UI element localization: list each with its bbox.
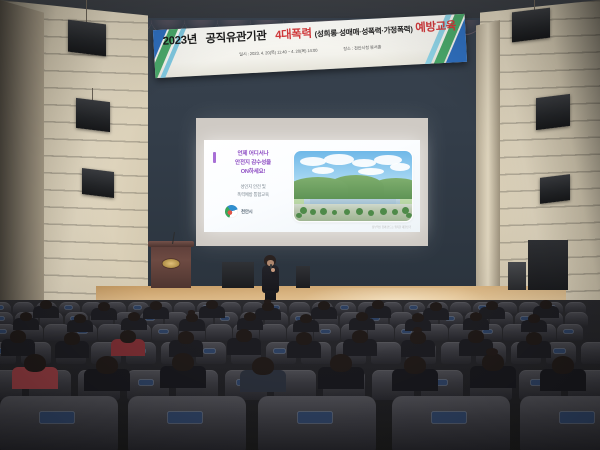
right-wall-corner [476, 20, 500, 306]
attendee-head [74, 314, 86, 323]
banner-accent: 4대폭력 [275, 28, 312, 42]
seat-number-plate [0, 330, 6, 333]
banner-year: 2023년 [162, 34, 197, 48]
attendee-head [430, 302, 442, 311]
slide-heading-line-1: 언제 어디서나 [219, 150, 287, 159]
photo-cloud [358, 168, 384, 175]
speaker-icon [82, 168, 114, 198]
attendee-head [552, 356, 574, 374]
slide-accent-bar [213, 152, 216, 163]
speaker-icon [76, 98, 110, 132]
seat-number-plate [40, 412, 74, 423]
podium [151, 245, 191, 288]
speaker-icon [528, 240, 568, 290]
photo-tree [392, 209, 398, 215]
seat-number-plate [560, 412, 594, 423]
auditorium-seat [258, 396, 376, 450]
slide-photo-city-hall [294, 151, 412, 221]
seat-number-plate [204, 349, 215, 353]
slide-logo: 천안시 [225, 205, 253, 218]
photo-hill [294, 177, 348, 199]
auditorium-photo: 2023년 공직유관기관 4대폭력 (성희롱·성매매·성폭력·가정폭력) 예방교… [0, 0, 600, 450]
banner-org: 공직유관기관 [205, 30, 267, 45]
auditorium-seat [206, 324, 232, 341]
banner-place: 장소 : 천안시청 봉서홀 [343, 44, 381, 52]
seat-number-plate [168, 412, 202, 423]
attendee-hair-bun [486, 348, 498, 356]
speaker-icon [512, 8, 550, 43]
auditorium-seat [557, 324, 583, 341]
seat-number-plate [321, 330, 329, 333]
seat-number-plate [139, 380, 153, 385]
auditorium-seat [581, 342, 600, 364]
attendee-head [468, 330, 484, 343]
seat-number-plate [564, 330, 572, 333]
attendee-head [150, 301, 162, 310]
photo-tree [296, 213, 302, 218]
auditorium-seat [128, 396, 246, 450]
attendee-head [40, 300, 52, 309]
podium-emblem-icon [163, 259, 180, 268]
auditorium-seat [520, 396, 600, 450]
speaker-icon [536, 94, 570, 130]
attendee-head [352, 330, 368, 343]
podium-top [148, 241, 194, 247]
photo-cloud [324, 154, 354, 165]
attendee-head [318, 301, 330, 310]
seat-number-plate [159, 330, 167, 333]
speaker-icon [222, 262, 254, 288]
photo-tree [380, 208, 387, 215]
auditorium-seat [152, 324, 178, 341]
attendee-head [178, 331, 194, 344]
attendee-head [128, 312, 140, 321]
attendee-head [528, 314, 540, 323]
projection-screen: 언제 어디서나 안전지 감수성을 ON하세요! 성인지 안전 및 폭력예방 통합… [196, 118, 428, 246]
attendee-head [96, 356, 118, 374]
attendee-head [20, 312, 32, 321]
attendee-head [412, 313, 424, 322]
attendee-head [98, 302, 110, 311]
seat-number-plate [274, 349, 285, 353]
banner-datetime: 일시 : 2023. 4. 20(목) 11:40 ~ 4. 20(목) 14:… [239, 48, 318, 58]
attendee-head [24, 354, 46, 372]
attendee-hair-bun [413, 327, 422, 333]
attendee-head [526, 332, 542, 345]
attendee-head [172, 353, 194, 371]
auditorium-seat [0, 396, 118, 450]
slide-logo-label: 천안시 [241, 209, 253, 215]
attendee-head [486, 301, 498, 310]
banner-accent-2: 예방교육 [415, 20, 456, 34]
attendee-head [330, 354, 352, 372]
attendee-head [356, 312, 368, 321]
speaker-icon [540, 174, 570, 204]
slide-subheading: 성인지 안전 및 폭력예방 통합교육 [219, 183, 287, 198]
government-emblem-icon [225, 205, 238, 218]
speaker-icon [296, 266, 310, 288]
photo-cloud [374, 155, 402, 165]
presenter-hand [271, 268, 275, 272]
auditorium-seat [260, 324, 286, 341]
slide-sub-line-2: 폭력예방 통합교육 [219, 191, 287, 199]
presentation-slide: 언제 어디서나 안전지 감수성을 ON하세요! 성인지 안전 및 폭력예방 통합… [204, 140, 420, 232]
attendee-hair-bun [188, 310, 195, 314]
seat-number-plate [298, 412, 332, 423]
slide-text-block: 언제 어디서나 안전지 감수성을 ON하세요! 성인지 안전 및 폭력예방 통합… [213, 150, 287, 224]
seat-number-plate [410, 306, 417, 308]
photo-tree [332, 210, 337, 215]
seat-number-plate [134, 306, 141, 308]
attendee-head [10, 330, 26, 343]
banner-paren: (성희롱·성매매·성폭력·가정폭력) [314, 25, 412, 39]
auditorium-seat [392, 396, 510, 450]
photo-tree [368, 210, 374, 216]
speaker-icon [68, 20, 106, 57]
attendee-head [296, 332, 312, 345]
speaker-hanger-wire [86, 0, 87, 24]
slide-footer: 정부혁신 함께 만드는 행복한 대한민국 [372, 225, 411, 229]
attendee-head [540, 300, 552, 309]
seat-number-plate [0, 317, 4, 319]
attendee-head [470, 312, 482, 321]
photo-cloud [300, 157, 326, 166]
photo-tree [406, 213, 412, 218]
slide-sub-line-1: 성인지 안전 및 [219, 183, 287, 191]
seat-number-plate [554, 349, 565, 353]
photo-tree [356, 208, 363, 215]
photo-tree [310, 209, 316, 215]
photo-tree [344, 209, 350, 215]
photo-cloud [312, 167, 334, 174]
attendee-hair-bun [264, 299, 271, 303]
slide-heading-line-2: 안전지 감수성을 [219, 159, 287, 168]
amplifier-rack [508, 262, 526, 290]
photo-tree [320, 208, 327, 215]
attendee-head [404, 356, 426, 374]
attendee-head [120, 330, 136, 343]
attendee-head [252, 357, 274, 375]
slide-heading-line-3: ON하세요! [219, 168, 287, 177]
seat-number-plate [0, 306, 3, 308]
seat-number-plate [341, 306, 348, 308]
seat-number-plate [483, 330, 491, 333]
attendee-head [244, 312, 256, 321]
attendee-head [372, 300, 384, 309]
photo-cloud [352, 159, 376, 167]
attendee-head [64, 332, 80, 345]
seat-number-plate [65, 306, 72, 308]
attendee-head [236, 329, 252, 342]
attendee-head [206, 300, 218, 309]
attendee-head [300, 314, 312, 323]
audience-seating-area [0, 300, 600, 450]
seat-number-plate [432, 412, 466, 423]
slide-heading: 언제 어디서나 안전지 감수성을 ON하세요! [219, 150, 287, 177]
